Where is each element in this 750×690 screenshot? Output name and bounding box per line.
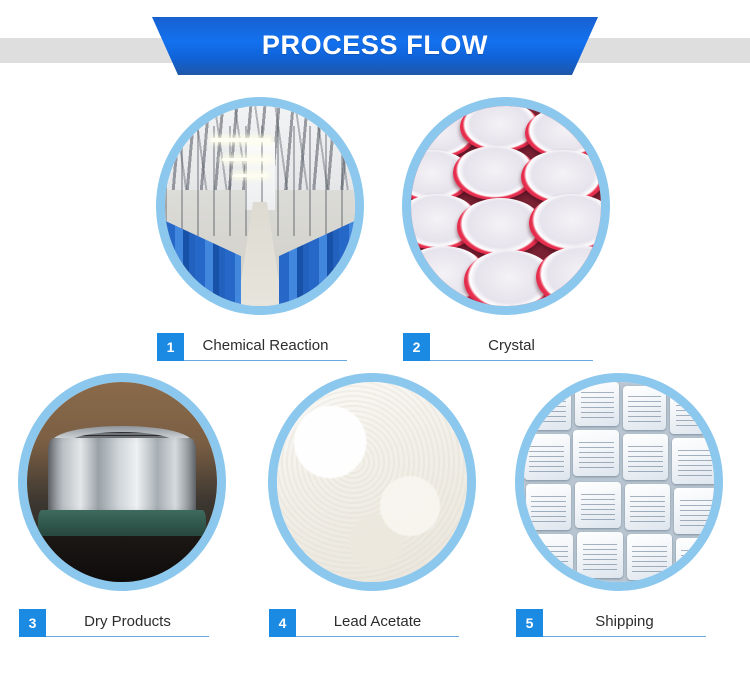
step-1-photo bbox=[165, 106, 355, 306]
process-step-4[interactable]: 4 Lead Acetate bbox=[268, 373, 476, 591]
step-4-image-circle bbox=[268, 373, 476, 591]
step-5-photo bbox=[524, 382, 714, 582]
step-5-number-badge: 5 bbox=[516, 609, 543, 637]
step-2-label-underline: Crystal bbox=[430, 333, 593, 361]
step-3-caption: 3 Dry Products bbox=[19, 609, 209, 637]
step-5-photo-frame bbox=[524, 382, 714, 582]
step-2-caption: 2 Crystal bbox=[403, 333, 593, 361]
step-3-label: Dry Products bbox=[84, 614, 171, 631]
step-3-photo-frame bbox=[27, 382, 217, 582]
process-step-1[interactable]: 1 Chemical Reaction bbox=[156, 97, 364, 315]
step-4-label-underline: Lead Acetate bbox=[296, 609, 459, 637]
step-1-photo-frame bbox=[165, 106, 355, 306]
step-5-label: Shipping bbox=[595, 614, 653, 631]
step-2-label: Crystal bbox=[488, 338, 535, 355]
step-1-image-circle bbox=[156, 97, 364, 315]
step-2-number-badge: 2 bbox=[403, 333, 430, 361]
step-3-number-badge: 3 bbox=[19, 609, 46, 637]
step-4-number-badge: 4 bbox=[269, 609, 296, 637]
step-4-photo-frame bbox=[277, 382, 467, 582]
ribbon-body: PROCESS FLOW bbox=[152, 17, 598, 75]
step-3-label-underline: Dry Products bbox=[46, 609, 209, 637]
process-step-5[interactable]: 5 Shipping bbox=[515, 373, 723, 591]
step-5-image-circle bbox=[515, 373, 723, 591]
step-5-label-underline: Shipping bbox=[543, 609, 706, 637]
step-2-photo-frame bbox=[411, 106, 601, 306]
step-4-caption: 4 Lead Acetate bbox=[269, 609, 459, 637]
process-step-2[interactable]: 2 Crystal bbox=[402, 97, 610, 315]
step-3-photo bbox=[27, 382, 217, 582]
step-2-photo bbox=[411, 106, 601, 306]
step-1-number-badge: 1 bbox=[157, 333, 184, 361]
banner-ribbon: PROCESS FLOW bbox=[152, 17, 598, 75]
step-5-caption: 5 Shipping bbox=[516, 609, 706, 637]
process-step-3[interactable]: 3 Dry Products bbox=[18, 373, 226, 591]
process-row-top: 1 Chemical Reaction bbox=[0, 92, 750, 372]
step-2-image-circle bbox=[402, 97, 610, 315]
step-1-caption: 1 Chemical Reaction bbox=[157, 333, 347, 361]
step-4-label: Lead Acetate bbox=[334, 614, 422, 631]
step-4-photo bbox=[277, 382, 467, 582]
header-banner: PROCESS FLOW bbox=[0, 0, 750, 92]
process-row-bottom: 3 Dry Products 4 Lead Acetate bbox=[0, 372, 750, 662]
step-1-label: Chemical Reaction bbox=[203, 338, 329, 355]
step-3-image-circle bbox=[18, 373, 226, 591]
step-1-label-underline: Chemical Reaction bbox=[184, 333, 347, 361]
page-title: PROCESS FLOW bbox=[262, 32, 488, 61]
